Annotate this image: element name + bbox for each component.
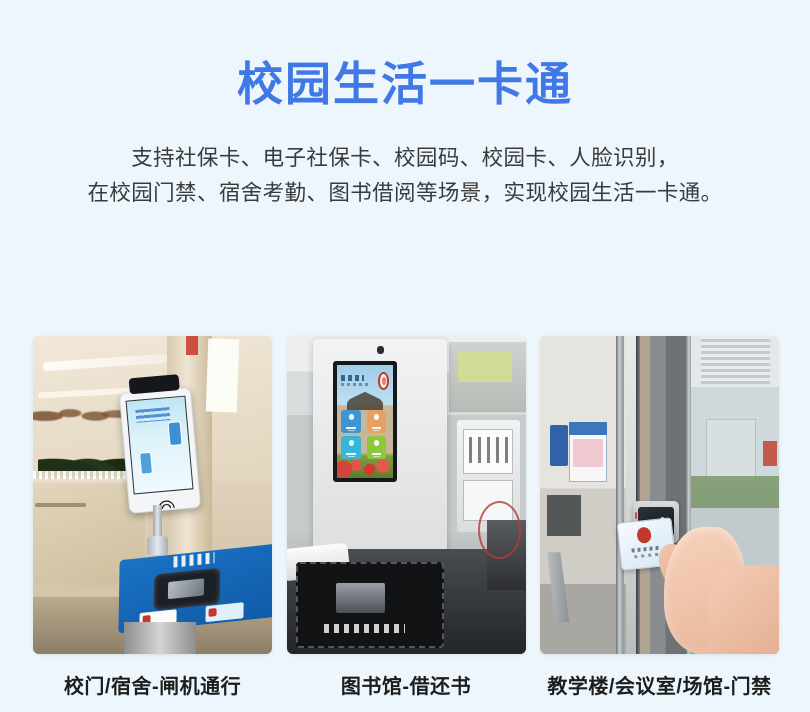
wall-calligraphy xyxy=(33,393,131,434)
photo-door-access xyxy=(540,336,779,654)
gate-card-label-right xyxy=(205,602,243,622)
red-cable xyxy=(478,501,521,558)
tile-sublabel xyxy=(348,430,355,431)
door-mullion-left xyxy=(616,336,623,654)
poster-header-bar xyxy=(569,422,607,435)
caption-library: 图书馆-借还书 xyxy=(287,670,526,699)
tile-sublabel xyxy=(348,456,355,457)
gate-scanner-window xyxy=(153,567,220,611)
indoor-chair xyxy=(547,552,569,622)
outside-building xyxy=(706,419,756,483)
page-subtitle: 支持社保卡、电子社保卡、校园码、校园卡、人脸识别， 在校园门禁、宿舍考勤、图书借… xyxy=(0,141,810,211)
reader-status-led xyxy=(635,512,637,519)
screen-phone-graphic-bottom xyxy=(139,451,152,474)
kiosk-tile-search[interactable] xyxy=(341,436,361,459)
school-emblem-icon xyxy=(378,372,389,390)
card-text-line-2 xyxy=(634,553,662,559)
terminal-camera-bar xyxy=(128,374,179,395)
book-on-tray xyxy=(336,583,385,612)
screen-flower-bed-photo xyxy=(337,455,393,478)
tile-sublabel xyxy=(373,430,380,431)
indoor-bench xyxy=(547,495,581,536)
screen-heading-text xyxy=(341,375,365,381)
book-scan-tray xyxy=(296,562,444,648)
photo-library-kiosk xyxy=(287,336,526,654)
kiosk-housing xyxy=(313,339,447,555)
scene-card-gate: 校门/宿舍-闸机通行 xyxy=(33,336,272,699)
wall-sign-icon xyxy=(550,425,567,466)
tile-label xyxy=(346,453,355,455)
tray-brand-text xyxy=(324,624,405,632)
red-tag xyxy=(186,336,198,355)
scene-card-row: 校门/宿舍-闸机通行 xyxy=(33,336,779,699)
window-blinds xyxy=(701,336,770,384)
account-icon xyxy=(374,440,379,446)
return-icon xyxy=(374,414,379,420)
kiosk-tile-account[interactable] xyxy=(367,436,387,459)
page-title: 校园生活一卡通 xyxy=(0,58,810,111)
borrow-icon xyxy=(349,414,354,420)
scene-card-access: 教学楼/会议室/场馆-门禁 xyxy=(540,336,779,699)
subtitle-line-1: 支持社保卡、电子社保卡、校园码、校园卡、人脸识别， xyxy=(40,141,770,176)
kiosk-touchscreen xyxy=(333,361,397,482)
outside-red-sign xyxy=(763,441,777,466)
subtitle-line-2: 在校园门禁、宿舍考勤、图书借阅等场景，实现校园生活一卡通。 xyxy=(40,176,770,211)
kiosk-camera-icon xyxy=(377,346,384,355)
caption-access: 教学楼/会议室/场馆-门禁 xyxy=(540,670,779,699)
kiosk-tile-borrow[interactable] xyxy=(341,410,361,433)
terminal-screen xyxy=(125,396,193,495)
terminal-pole-base xyxy=(147,536,169,555)
screen-phone-graphic-top xyxy=(168,421,183,446)
scene-card-library: 图书馆-借还书 xyxy=(287,336,526,699)
screen-subheading-text xyxy=(341,383,369,386)
turnstile-body xyxy=(124,622,196,654)
card-emblem-icon xyxy=(636,527,651,544)
gate-brand-text xyxy=(173,553,214,568)
tile-label xyxy=(346,427,355,429)
indoor-area xyxy=(540,336,626,654)
forearm xyxy=(707,565,779,654)
tile-label xyxy=(372,453,381,455)
door-mullion-center xyxy=(636,336,641,654)
caption-gate: 校门/宿舍-闸机通行 xyxy=(33,670,272,699)
instruction-text-box xyxy=(463,429,513,474)
photo-gate-terminal xyxy=(33,336,272,654)
tile-sublabel xyxy=(373,456,380,457)
face-recognition-terminal xyxy=(119,387,201,514)
bookshelf-right xyxy=(449,342,525,412)
tile-label xyxy=(372,427,381,429)
posted-notice xyxy=(206,339,240,413)
outside-hedge xyxy=(691,476,779,508)
kiosk-tile-return[interactable] xyxy=(367,410,387,433)
search-icon xyxy=(349,440,354,446)
